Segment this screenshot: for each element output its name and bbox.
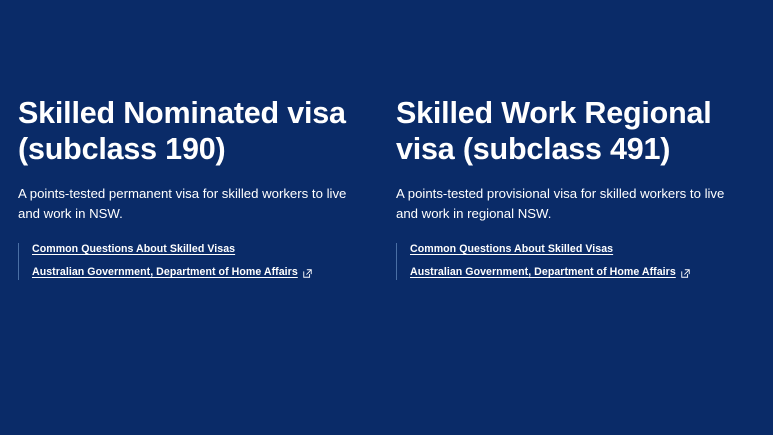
list-item: Australian Government, Department of Hom…	[32, 266, 366, 280]
page-title: Skilled Nominated visa (subclass 190)	[18, 96, 366, 167]
visa-card-skilled-work-regional-491: Skilled Work Regional visa (subclass 491…	[378, 96, 756, 280]
external-link-icon	[681, 269, 690, 278]
related-links-group: Common Questions About Skilled Visas Aus…	[396, 243, 744, 280]
visa-description: A points-tested permanent visa for skill…	[18, 184, 366, 224]
link-common-questions[interactable]: Common Questions About Skilled Visas	[410, 243, 613, 257]
visa-card-skilled-nominated-190: Skilled Nominated visa (subclass 190) A …	[0, 96, 378, 280]
link-home-affairs[interactable]: Australian Government, Department of Hom…	[32, 266, 298, 280]
page-title: Skilled Work Regional visa (subclass 491…	[396, 96, 744, 167]
link-common-questions[interactable]: Common Questions About Skilled Visas	[32, 243, 235, 257]
visa-card-columns: Skilled Nominated visa (subclass 190) A …	[0, 96, 773, 280]
external-link-icon	[303, 269, 312, 278]
visa-description: A points-tested provisional visa for ski…	[396, 184, 744, 224]
list-item: Australian Government, Department of Hom…	[410, 266, 744, 280]
list-item: Common Questions About Skilled Visas	[32, 243, 366, 257]
link-home-affairs[interactable]: Australian Government, Department of Hom…	[410, 266, 676, 280]
list-item: Common Questions About Skilled Visas	[410, 243, 744, 257]
visa-info-panel: Skilled Nominated visa (subclass 190) A …	[0, 0, 773, 435]
related-links-group: Common Questions About Skilled Visas Aus…	[18, 243, 366, 280]
